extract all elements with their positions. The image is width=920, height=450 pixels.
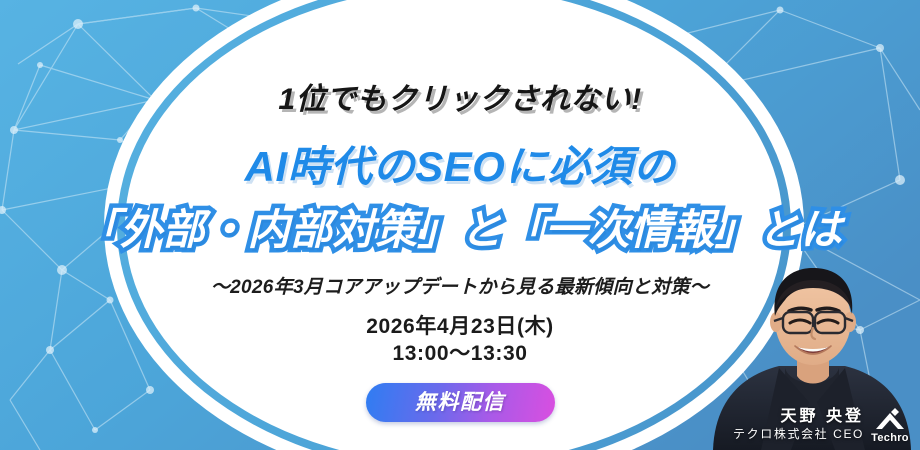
free-broadcast-button[interactable]: 無料配信: [366, 383, 555, 422]
chevron-up-icon: [873, 407, 907, 431]
speaker-role: テクロ株式会社 CEO: [733, 426, 864, 442]
brand-logo[interactable]: Techro: [866, 407, 914, 444]
title-line-2: 「外部・内部対策」と「一次情報」とは: [0, 196, 920, 257]
brand-name: Techro: [866, 432, 914, 444]
tagline: 1位でもクリックされない!: [0, 74, 920, 118]
speaker-name: 天野 央登: [733, 407, 864, 426]
speaker-info: 天野 央登 テクロ株式会社 CEO: [733, 407, 864, 442]
title-line-1: AI時代のSEOに必須の: [0, 133, 920, 194]
webinar-banner: 1位でもクリックされない! AI時代のSEOに必須の 「外部・内部対策」と「一次…: [0, 0, 920, 450]
